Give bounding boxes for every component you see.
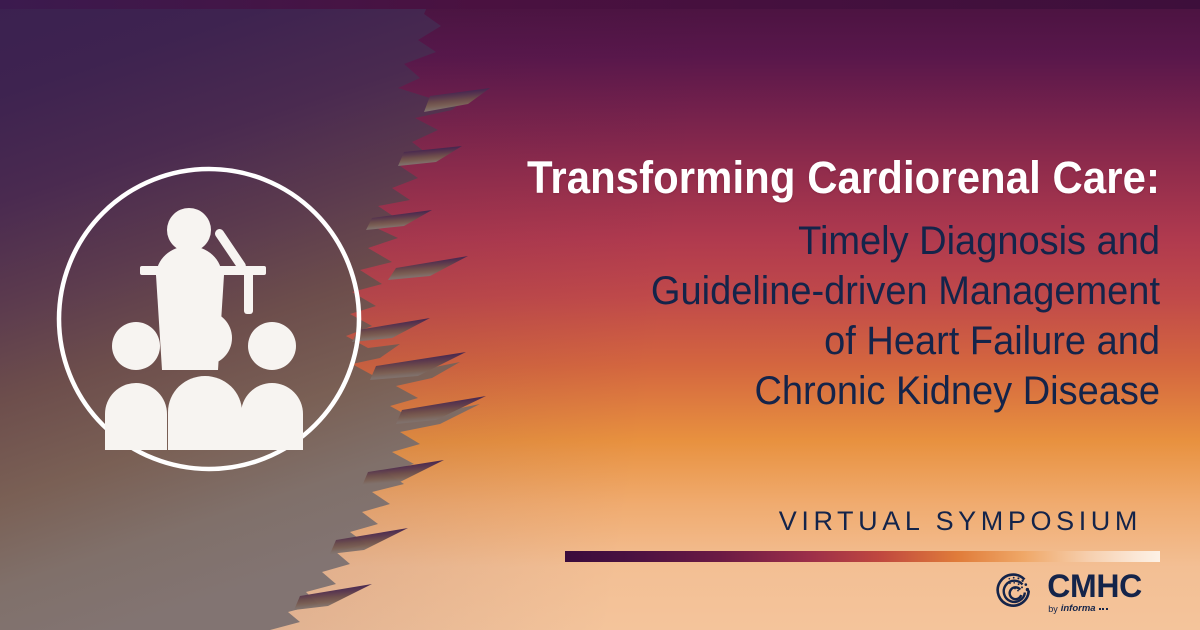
event-type-label: VIRTUAL SYMPOSIUM bbox=[779, 506, 1142, 537]
cmhc-wordmark: CMHC bbox=[1047, 570, 1142, 602]
content-column: Transforming Cardiorenal Care: Timely Di… bbox=[380, 0, 1160, 630]
subtitle-block: Timely Diagnosis and Guideline-driven Ma… bbox=[419, 216, 1160, 416]
subtitle-line: Chronic Kidney Disease bbox=[419, 366, 1160, 416]
speaker-podium-audience-icon bbox=[105, 208, 303, 450]
gradient-divider bbox=[565, 551, 1160, 562]
byline-brand: informa bbox=[1061, 604, 1096, 614]
page-title: Transforming Cardiorenal Care: bbox=[435, 154, 1160, 201]
byline-by: by bbox=[1048, 605, 1058, 614]
speaker-podium-emblem bbox=[48, 158, 370, 480]
cmhc-wordmark-group: CMHC by informa bbox=[1047, 570, 1142, 614]
subtitle-line: of Heart Failure and bbox=[419, 316, 1160, 366]
cmhc-spiral-mark bbox=[994, 570, 1038, 614]
cmhc-logo: CMHC by informa bbox=[994, 570, 1142, 614]
subtitle-line: Guideline-driven Management bbox=[419, 266, 1160, 316]
informa-byline: by informa bbox=[1047, 604, 1142, 614]
subtitle-line: Timely Diagnosis and bbox=[419, 216, 1160, 266]
symposium-banner: Transforming Cardiorenal Care: Timely Di… bbox=[0, 0, 1200, 630]
informa-dots-icon bbox=[1099, 608, 1108, 610]
